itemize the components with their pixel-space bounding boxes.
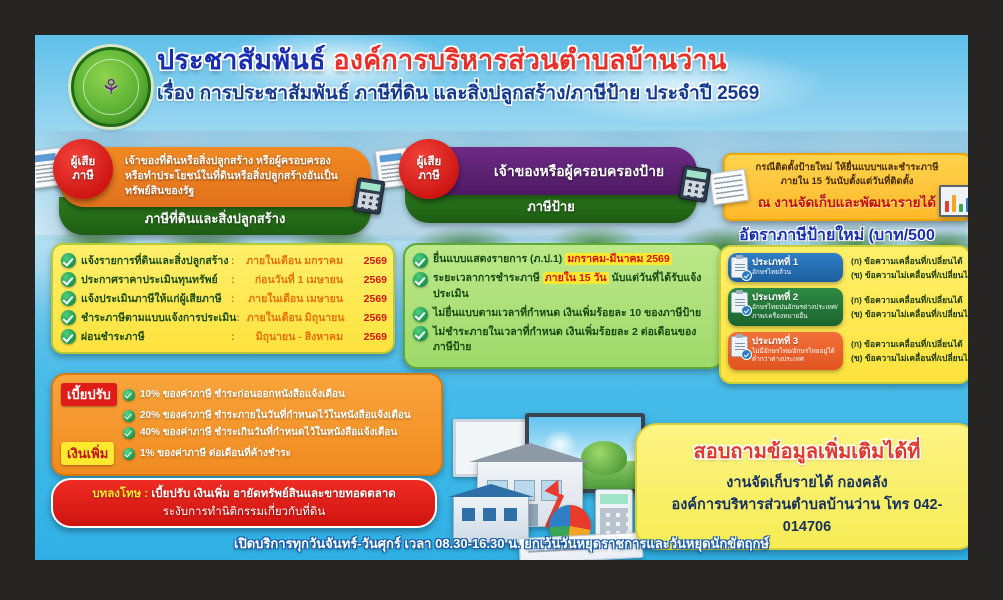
rate-type-badge: ประเภทที่ 2อักษรไทยปนอักษรต่างประเทศ/ภาพ…: [728, 288, 843, 326]
penalty-text-wrap: 10% ของค่าภาษี ชำระก่อนออกหนังสือแจ้งเตื…: [123, 387, 345, 402]
notice-line-1: กรณีติดตั้งป้ายใหม่ ให้ยื่นแบบฯและชำระภา…: [733, 161, 961, 175]
land-schedule-row: ผ่อนชำระภาษี:มิถุนายน - สิงหาคม2569: [53, 327, 393, 346]
schedule-year: 2569: [343, 255, 393, 267]
sign-rule-text: ยื่นแบบแสดงรายการ (ภ.ป.1) มกราคม-มีนาคม …: [433, 252, 672, 268]
land-schedule-row: แจ้งรายการที่ดินและสิ่งปลูกสร้าง:ภายในเด…: [53, 251, 393, 270]
land-schedule-row: ประกาศราคาประเมินทุนทรัพย์:ก่อนวันที่ 1 …: [53, 270, 393, 289]
rate-type-title: ประเภทที่ 3: [752, 336, 838, 348]
sign-tax-pill: ผู้เสีย ภาษี เจ้าของหรือผู้ครอบครองป้าย: [405, 147, 697, 195]
schedule-year: 2569: [343, 293, 393, 305]
notice-line-3: ณ งานจัดเก็บและพัฒนารายได้: [733, 191, 961, 213]
land-schedule-rows: แจ้งรายการที่ดินและสิ่งปลูกสร้าง:ภายในเด…: [53, 251, 393, 346]
check-icon: [61, 310, 76, 325]
rate-type-description: อักษรไทยล้วน: [752, 269, 838, 277]
check-icon: [61, 291, 76, 306]
new-sign-notice-panel: กรณีติดตั้งป้ายใหม่ ให้ยื่นแบบฯและชำระภา…: [723, 153, 968, 221]
rate-line-group: (ก) ข้อความเคลื่อนที่/เปลี่ยนได้52(ข) ข้…: [843, 288, 968, 326]
check-icon: [123, 448, 135, 460]
penalty-text-wrap: 40% ของค่าภาษี ชำระเกินวันที่กำหนดไว้ในห…: [123, 425, 397, 440]
rate-card-item: ประเภทที่ 3ไม่มีอักษรไทย/อักษรไทยอยู่ใต้…: [728, 332, 962, 370]
sign-rule-text: ระยะเวลาการชำระภาษี ภายใน 15 วัน นับแต่ว…: [433, 271, 713, 303]
poster-canvas: ⚘ ประชาสัมพันธ์ องค์การบริหารส่วนตำบลบ้า…: [35, 35, 968, 560]
check-icon: [61, 272, 76, 287]
sign-rule-row: ไม่ชำระภายในเวลาที่กำหนด เงินเพิ่มร้อยละ…: [413, 325, 713, 357]
title-part-1: ประชาสัมพันธ์: [157, 45, 326, 75]
rate-line-label: (ข) ข้อความไม่เคลื่อนที่/เปลี่ยนไม่ได้: [851, 351, 968, 365]
rate-type-badge: ประเภทที่ 1อักษรไทยล้วน: [728, 253, 843, 282]
page-title: ประชาสัมพันธ์ องค์การบริหารส่วนตำบลบ้านว…: [157, 45, 958, 75]
penalty-card: เบี้ยปรับ10% ของค่าภาษี ชำระก่อนออกหนังส…: [51, 373, 443, 476]
check-icon: [413, 307, 428, 322]
sign-tax-rules-card: ยื่นแบบแสดงรายการ (ภ.ป.1) มกราคม-มีนาคม …: [403, 243, 724, 369]
penalty-rows: เบี้ยปรับ10% ของค่าภาษี ชำระก่อนออกหนังส…: [61, 383, 431, 465]
sign-rules-rows: ยื่นแบบแสดงรายการ (ภ.ป.1) มกราคม-มีนาคม …: [413, 252, 713, 356]
schedule-separator: :: [231, 331, 239, 343]
check-icon: [413, 253, 428, 268]
land-schedule-row: แจ้งประเมินภาษีให้แก่ผู้เสียภาษี:ภายในเด…: [53, 289, 393, 308]
rate-line: (ก) ข้อความเคลื่อนที่/เปลี่ยนได้52: [851, 293, 968, 307]
punishment-bar: บทลงโทษ : เบี้ยปรับ เงินเพิ่ม อายัดทรัพย…: [51, 478, 437, 528]
punishment-line-2: ระงับการทำนิติกรรมเกี่ยวกับที่ดิน: [65, 503, 423, 521]
land-seal-line-2: ภาษี: [72, 169, 94, 183]
surcharge-tag: เงินเพิ่ม: [61, 442, 114, 465]
schedule-deadline: ภายในเดือน มกราคม: [239, 252, 343, 269]
contact-line-1: งานจัดเก็บรายได้ กองคลัง: [649, 473, 965, 495]
penalty-text: 40% ของค่าภาษี ชำระเกินวันที่กำหนดไว้ในห…: [140, 425, 397, 440]
taxpayer-seal-icon: ผู้เสีย ภาษี: [399, 139, 459, 199]
emblem-glyph: ⚘: [101, 77, 121, 99]
rate-line: (ก) ข้อความเคลื่อนที่/เปลี่ยนได้10: [851, 254, 968, 268]
schedule-deadline: ภายในเดือน มิถุนายน: [244, 309, 344, 326]
check-icon: [413, 326, 428, 341]
rate-line-label: (ข) ข้อความไม่เคลื่อนที่/เปลี่ยนไม่ได้: [851, 307, 968, 321]
bar-chart-monitor-icon: [939, 185, 968, 217]
sign-seal-line-1: ผู้เสีย: [417, 155, 441, 169]
sign-rule-prefix: ระยะเวลาการชำระภาษี: [433, 272, 543, 284]
rate-line-group: (ก) ข้อความเคลื่อนที่/เปลี่ยนได้10(ข) ข้…: [843, 253, 968, 282]
check-icon: [61, 329, 76, 344]
rate-line-group: (ก) ข้อความเคลื่อนที่/เปลี่ยนได้52(ข) ข้…: [843, 332, 968, 370]
land-tax-badge: ผู้เสีย ภาษี เจ้าของที่ดินหรือสิ่งปลูกสร…: [59, 147, 371, 235]
schedule-task: ประกาศราคาประเมินทุนทรัพย์: [81, 271, 231, 288]
rate-type-title: ประเภทที่ 2: [752, 292, 838, 304]
rate-type-title: ประเภทที่ 1: [752, 257, 838, 269]
poster-header: ⚘ ประชาสัมพันธ์ องค์การบริหารส่วนตำบลบ้า…: [35, 35, 968, 143]
penalty-text-wrap: 20% ของค่าภาษี ชำระภายในวันที่กำหนดไว้ใน…: [123, 408, 411, 423]
check-icon: [413, 272, 428, 287]
sign-rule-prefix: ไม่ยื่นแบบตามเวลาที่กำหนด เงินเพิ่มร้อยล…: [433, 307, 701, 319]
contact-heading: สอบถามข้อมูลเพิ่มเติมได้ที่: [649, 435, 965, 467]
schedule-deadline: ก่อนวันที่ 1 เมษายน: [239, 271, 343, 288]
sign-rule-highlight: มกราคม-มีนาคม 2569: [565, 253, 671, 265]
penalty-text: 10% ของค่าภาษี ชำระก่อนออกหนังสือแจ้งเตื…: [140, 387, 345, 402]
check-icon: [61, 253, 76, 268]
service-hours-bar: เปิดบริการทุกวันจันทร์-วันศุกร์ เวลา 08.…: [35, 529, 968, 560]
schedule-year: 2569: [343, 331, 393, 343]
penalty-text: 20% ของค่าภาษี ชำระภายในวันที่กำหนดไว้ใน…: [140, 408, 411, 423]
rate-line-label: (ก) ข้อความเคลื่อนที่/เปลี่ยนได้: [851, 254, 963, 268]
title-part-2: องค์การบริหารส่วนตำบลบ้านว่าน: [333, 45, 726, 75]
organization-emblem-icon: ⚘: [71, 47, 151, 127]
clipboard-icon: [731, 336, 748, 357]
title-block: ประชาสัมพันธ์ องค์การบริหารส่วนตำบลบ้านว…: [157, 45, 958, 108]
rate-line: (ข) ข้อความไม่เคลื่อนที่/เปลี่ยนไม่ได้50: [851, 351, 968, 365]
check-icon: [123, 427, 135, 439]
notice-line-2: ภายใน 15 วันนับตั้งแต่วันที่ติดตั้ง: [733, 175, 961, 189]
surcharge-row: เงินเพิ่ม1% ของค่าภาษี ต่อเดือนที่ค้างชำ…: [61, 442, 431, 465]
penalty-tag-cell: เบี้ยปรับ: [61, 383, 123, 406]
calculator-icon: [353, 177, 386, 215]
land-tax-description: เจ้าของที่ดินหรือสิ่งปลูกสร้าง หรือผู้คร…: [125, 154, 361, 200]
schedule-separator: :: [231, 293, 239, 305]
land-seal-line-1: ผู้เสีย: [71, 155, 95, 169]
calculator-icon: [679, 165, 712, 203]
sign-rule-row: ไม่ยื่นแบบตามเวลาที่กำหนด เงินเพิ่มร้อยล…: [413, 306, 713, 322]
penalty-row: 40% ของค่าภาษี ชำระเกินวันที่กำหนดไว้ในห…: [61, 425, 431, 440]
sign-seal-line-2: ภาษี: [418, 169, 440, 183]
rate-type-description: อักษรไทยปนอักษรต่างประเทศ/ภาพ/เครื่องหมา…: [752, 304, 838, 321]
sign-rule-prefix: ยื่นแบบแสดงรายการ (ภ.ป.1): [433, 253, 565, 265]
schedule-task: แจ้งประเมินภาษีให้แก่ผู้เสียภาษี: [81, 290, 231, 307]
sign-rate-card: ประเภทที่ 1อักษรไทยล้วน(ก) ข้อความเคลื่อ…: [719, 245, 968, 384]
rate-card-item: ประเภทที่ 1อักษรไทยล้วน(ก) ข้อความเคลื่อ…: [728, 253, 962, 282]
schedule-deadline: มิถุนายน - สิงหาคม: [239, 328, 343, 345]
check-icon: [123, 410, 135, 422]
land-tax-schedule-card: แจ้งรายการที่ดินและสิ่งปลูกสร้าง:ภายในเด…: [51, 243, 395, 354]
rate-type-badge: ประเภทที่ 3ไม่มีอักษรไทย/อักษรไทยอยู่ใต้…: [728, 332, 843, 370]
clipboard-icon: [731, 257, 748, 278]
schedule-deadline: ภายในเดือน เมษายน: [239, 290, 343, 307]
rate-card-rows: ประเภทที่ 1อักษรไทยล้วน(ก) ข้อความเคลื่อ…: [728, 253, 962, 370]
punishment-text: เบี้ยปรับ เงินเพิ่ม อายัดทรัพย์สินและขาย…: [148, 488, 395, 500]
surcharge-text: 1% ของค่าภาษี ต่อเดือนที่ค้างชำระ: [140, 446, 291, 461]
rate-line-label: (ข) ข้อความไม่เคลื่อนที่/เปลี่ยนไม่ได้: [851, 268, 968, 282]
penalty-row: 20% ของค่าภาษี ชำระภายในวันที่กำหนดไว้ใน…: [61, 408, 431, 423]
clipboard-icon: [731, 292, 748, 313]
sign-rule-highlight: ภายใน 15 วัน: [543, 272, 609, 284]
rate-line-label: (ก) ข้อความเคลื่อนที่/เปลี่ยนได้: [851, 337, 963, 351]
pen-form-icon: [709, 169, 749, 206]
schedule-year: 2569: [345, 312, 393, 324]
surcharge-text-wrap: 1% ของค่าภาษี ต่อเดือนที่ค้างชำระ: [123, 446, 291, 461]
rate-line: (ข) ข้อความไม่เคลื่อนที่/เปลี่ยนไม่ได้5: [851, 268, 968, 282]
schedule-year: 2569: [343, 274, 393, 286]
schedule-separator: :: [231, 255, 239, 267]
rate-card-item: ประเภทที่ 2อักษรไทยปนอักษรต่างประเทศ/ภาพ…: [728, 288, 962, 326]
rate-type-description: ไม่มีอักษรไทย/อักษรไทยอยู่ใต้ต่ำกว่าต่าง…: [752, 348, 838, 365]
sign-rule-row: ระยะเวลาการชำระภาษี ภายใน 15 วัน นับแต่ว…: [413, 271, 713, 303]
sign-rule-text: ไม่ชำระภายในเวลาที่กำหนด เงินเพิ่มร้อยละ…: [433, 325, 713, 357]
schedule-task: แจ้งรายการที่ดินและสิ่งปลูกสร้าง: [81, 252, 231, 269]
land-tax-pill: ผู้เสีย ภาษี เจ้าของที่ดินหรือสิ่งปลูกสร…: [59, 147, 371, 207]
punishment-line-1: บทลงโทษ : เบี้ยปรับ เงินเพิ่ม อายัดทรัพย…: [65, 485, 423, 503]
rate-line: (ก) ข้อความเคลื่อนที่/เปลี่ยนได้52: [851, 337, 968, 351]
sign-tax-badge: ผู้เสีย ภาษี เจ้าของหรือผู้ครอบครองป้าย …: [405, 147, 697, 223]
punishment-tag: บทลงโทษ :: [92, 488, 148, 500]
schedule-task: ชำระภาษีตามแบบแจ้งการประเมิน: [81, 309, 236, 326]
sign-rule-row: ยื่นแบบแสดงรายการ (ภ.ป.1) มกราคม-มีนาคม …: [413, 252, 713, 268]
page-subtitle: เรื่อง การประชาสัมพันธ์ ภาษีที่ดิน และสิ…: [157, 78, 958, 108]
schedule-separator: :: [236, 312, 244, 324]
schedule-task: ผ่อนชำระภาษี: [81, 328, 231, 345]
sign-rule-prefix: ไม่ชำระภายในเวลาที่กำหนด เงินเพิ่มร้อยละ…: [433, 326, 696, 354]
surcharge-tag-cell: เงินเพิ่ม: [61, 442, 123, 465]
fine-tag: เบี้ยปรับ: [61, 383, 117, 406]
taxpayer-seal-icon: ผู้เสีย ภาษี: [53, 139, 113, 199]
rate-line-label: (ก) ข้อความเคลื่อนที่/เปลี่ยนได้: [851, 293, 963, 307]
check-icon: [123, 389, 135, 401]
rate-line: (ข) ข้อความไม่เคลื่อนที่/เปลี่ยนไม่ได้26: [851, 307, 968, 321]
schedule-separator: :: [231, 274, 239, 286]
sign-rule-text: ไม่ยื่นแบบตามเวลาที่กำหนด เงินเพิ่มร้อยล…: [433, 306, 701, 322]
land-schedule-row: ชำระภาษีตามแบบแจ้งการประเมิน:ภายในเดือน …: [53, 308, 393, 327]
penalty-row: เบี้ยปรับ10% ของค่าภาษี ชำระก่อนออกหนังส…: [61, 383, 431, 406]
sign-tax-description: เจ้าของหรือผู้ครอบครองป้าย: [471, 161, 687, 181]
